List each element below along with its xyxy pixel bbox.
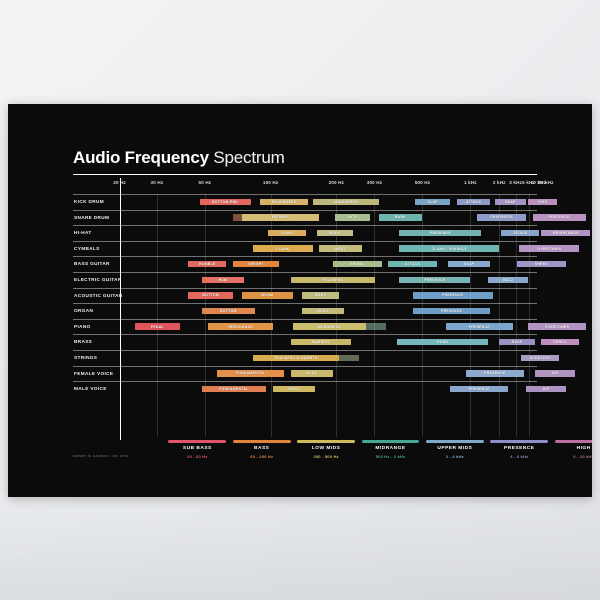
row-divider (73, 288, 537, 289)
axis-tick: 50 Hz (198, 180, 211, 185)
band-bar-label: PEDAL (151, 325, 164, 329)
band-bar-label: CLANG / SPARKLE (432, 247, 468, 251)
frequency-band-bar[interactable]: BODY (273, 386, 315, 392)
page-title: Audio Frequency Spectrum (73, 148, 285, 168)
frequency-band-bar[interactable] (233, 214, 242, 220)
band-bar-label: PRESENCE (484, 371, 505, 375)
frequency-band-bar[interactable]: BOOM (242, 292, 293, 298)
axis-tick: 30 Hz (151, 180, 164, 185)
legend-band-range: 20 - 60 Hz (187, 454, 207, 459)
frequency-band-bar[interactable]: FATNESS (242, 214, 320, 220)
axis-tick: 3 kHz (509, 180, 522, 185)
frequency-band-bar[interactable]: MEAT (319, 245, 361, 251)
frequency-band-bar[interactable]: PRESENCE (413, 308, 491, 314)
frequency-band-bar[interactable]: BOTTOM END (200, 199, 251, 205)
row-divider (73, 319, 537, 320)
legend-band-range: 2 - 4 kHz (446, 454, 464, 459)
instrument-row: ELECTRIC GUITARHUMFULLNESSPRESENCEBUZZ (65, 272, 545, 288)
instrument-label: BASS GUITAR (74, 261, 110, 266)
frequency-band-bar[interactable]: CLANK (253, 245, 313, 251)
axis-tick: 200 Hz (329, 180, 344, 185)
band-bar-label: OVERTONES (537, 247, 561, 251)
legend-band-swatch (426, 440, 484, 443)
axis-tick: 2 kHz (493, 180, 506, 185)
band-bar-label: HISS (538, 200, 547, 204)
band-bar-label: AIR (551, 371, 558, 375)
frequency-band-bar[interactable]: OVERTONES (519, 245, 579, 251)
band-bar-label: CLANK (276, 247, 290, 251)
row-divider (73, 225, 537, 226)
band-bar-label: GONG (281, 231, 293, 235)
frequency-band-bar[interactable]: PRESENCE (533, 214, 586, 220)
legend-band-swatch (168, 440, 226, 443)
frequency-band-bar[interactable]: FULLNESS & WARMTH (253, 355, 340, 361)
band-bar-label: FUNDAMENTAL (219, 387, 248, 391)
frequency-band-bar[interactable]: SNAP (495, 199, 526, 205)
legend-band-swatch (555, 440, 592, 443)
frequency-band-bar[interactable]: PRESENCE (399, 230, 481, 236)
frequency-band-bar[interactable]: PRESENCE (446, 323, 513, 329)
band-bar-label: SCRATCHY (530, 356, 551, 360)
legend-band-swatch (362, 440, 420, 443)
band-bar-label: PRESENCE (549, 215, 570, 219)
row-divider (73, 334, 537, 335)
axis-tick: 500 Hz (415, 180, 430, 185)
band-bar-label: BOTTOM END (212, 200, 238, 204)
frequency-band-bar[interactable]: WARMTH (291, 339, 351, 345)
band-bar-label: SIZZLE (514, 231, 528, 235)
frequency-band-bar[interactable]: SHEEN (517, 261, 566, 267)
frequency-band-bar[interactable]: PRESENCE (450, 386, 508, 392)
band-bar-label: PRESENCE (469, 325, 490, 329)
band-bar-label: FULLNESS & WARMTH (275, 356, 318, 360)
row-divider (73, 210, 537, 211)
frequency-band-bar[interactable]: RUMBLE (188, 261, 226, 267)
frequency-axis: 20 Hz30 Hz50 Hz100 Hz200 Hz300 Hz500 Hz1… (65, 180, 545, 193)
frequency-band-bar[interactable]: CRISPNESS (477, 214, 526, 220)
row-divider (73, 241, 537, 242)
instrument-label: PIANO (74, 324, 91, 329)
instrument-label: ACOUSTIC GUITAR (74, 293, 123, 298)
frequency-band-bar[interactable]: HUM (202, 277, 244, 283)
row-divider (73, 381, 537, 382)
frequency-band-bar[interactable]: SNAP (448, 261, 490, 267)
instrument-row: PIANOPEDALRESONANCEMUDDINESSPRESENCEOVER… (65, 319, 545, 335)
frequency-band-bar[interactable]: MUDDINESS (313, 199, 380, 205)
frequency-band-bar[interactable]: GONG (268, 230, 306, 236)
title-bold: Audio Frequency (73, 148, 209, 167)
frequency-band-legend: SONNY B HARRIS / UK 2722 SUB BASS20 - 60… (65, 440, 545, 474)
frequency-band-bar[interactable] (366, 323, 386, 329)
legend-band-range: 4 - 6 kHz (510, 454, 528, 459)
band-bar-label: BODY (315, 293, 326, 297)
row-divider (73, 272, 537, 273)
instrument-row: STRINGSFULLNESS & WARMTHSCRATCHY (65, 350, 545, 366)
frequency-band-bar[interactable]: BITE (335, 214, 371, 220)
frequency-band-bar[interactable]: WEIGHT (233, 261, 280, 267)
legend-band-swatch (490, 440, 548, 443)
poster-sheet: Audio Frequency Spectrum 20 Hz30 Hz50 Hz… (65, 134, 545, 474)
instrument-label: KICK DRUM (74, 199, 104, 204)
frequency-band-bar[interactable]: ATTACK (388, 261, 437, 267)
frequency-band-bar[interactable]: AIR (535, 370, 575, 376)
audio-frequency-spectrum-poster: Audio Frequency Spectrum 20 Hz30 Hz50 Hz… (8, 104, 592, 497)
row-divider (73, 366, 537, 367)
band-bar-label: ATTACK (405, 262, 420, 266)
band-bar-label: MUDDINESS (334, 200, 357, 204)
band-bar-label: FATNESS (272, 215, 290, 219)
frequency-band-bar[interactable]: SLAP (415, 199, 451, 205)
frequency-band-bar[interactable]: RESONANCE (208, 323, 272, 329)
band-bar-label: SNAP (505, 200, 516, 204)
band-bar-label: BODY (288, 387, 299, 391)
frequency-band-bar[interactable]: BUZZ (488, 277, 528, 283)
instrument-label: SNARE DRUM (74, 215, 109, 220)
band-bar-label: BRIGHTNESS (553, 231, 578, 235)
row-divider (73, 256, 537, 257)
frequency-band-bar[interactable]: FUNDAMENTAL (217, 370, 284, 376)
legend-band-swatch (233, 440, 291, 443)
band-bar-label: CRISPNESS (490, 215, 512, 219)
band-bar-label: BITE (348, 215, 357, 219)
band-bar-label: BOTTOM (220, 309, 237, 313)
row-divider (73, 303, 537, 304)
band-bar-label: RUMBLE (199, 262, 215, 266)
frequency-band-bar[interactable]: HONK (397, 339, 488, 345)
frequency-band-bar[interactable]: BRIGHTNESS (541, 230, 590, 236)
band-bar-label: RESONANCE (228, 325, 253, 329)
axis-tick: 100 Hz (263, 180, 278, 185)
frequency-band-bar[interactable]: SCRATCHY (521, 355, 559, 361)
instrument-label: ELECTRIC GUITAR (74, 277, 122, 282)
legend-band-name: BASS (254, 446, 269, 451)
axis-tick: 20 kHz (538, 180, 553, 185)
title-divider (73, 174, 537, 175)
band-bar-label: BOOM (261, 293, 273, 297)
frequency-band-bar[interactable]: GROWL (333, 261, 382, 267)
legend-band-name: UPPER MIDS (437, 446, 472, 451)
band-bar-label: PRESENCE (469, 387, 490, 391)
band-bar-label: SLAP (427, 200, 437, 204)
band-bar-label: HONK (437, 340, 448, 344)
frequency-band-bar[interactable]: RASP (499, 339, 535, 345)
band-bar-label: BODY (317, 309, 328, 313)
band-bar-label: MEAT (335, 247, 346, 251)
legend-band-name: MIDRANGE (375, 446, 405, 451)
frequency-band-bar[interactable]: BOTTOM (202, 308, 255, 314)
band-bar-label: PRESENCE (424, 278, 445, 282)
frequency-band-bar[interactable]: SIZZLE (501, 230, 539, 236)
frequency-band-bar[interactable]: PRESENCE (399, 277, 470, 283)
axis-tick: 1 kHz (464, 180, 477, 185)
band-bar-label: RASP (512, 340, 523, 344)
title-light: Spectrum (209, 148, 285, 167)
legend-band-range: 6 - 20 kHz (573, 454, 592, 459)
instrument-row: KICK DRUMBOTTOM ENDROUNDNESSMUDDINESSSLA… (65, 194, 545, 210)
frequency-band-bar[interactable]: MUDDINESS (293, 323, 366, 329)
legend-band-swatch (297, 440, 355, 443)
credit-line: SONNY B HARRIS / UK 2722 (73, 454, 129, 458)
instrument-row: MALE VOICEFUNDAMENTALBODYPRESENCEAIR (65, 381, 545, 397)
instrument-row: SNARE DRUMFATNESSBITEBARKCRISPNESSPRESEN… (65, 210, 545, 226)
band-bar-label: ROUNDNESS (272, 200, 297, 204)
frequency-band-bar[interactable]: PRESENCE (466, 370, 524, 376)
legend-band-range: 500 Hz - 2 kHz (376, 454, 405, 459)
legend-band-name: LOW MIDS (312, 446, 341, 451)
band-bar-label: HUM (218, 278, 227, 282)
instrument-row: ACOUSTIC GUITARBOTTOMBOOMBODYPRESENCE (65, 288, 545, 304)
band-bar-label: BOTTOM (202, 293, 219, 297)
frequency-band-bar[interactable] (339, 355, 359, 361)
band-bar-label: SHEEN (535, 262, 548, 266)
band-bar-label: GROWL (350, 262, 365, 266)
instrument-row: BASS GUITARRUMBLEWEIGHTGROWLATTACKSNAPSH… (65, 256, 545, 272)
instrument-row: FEMALE VOICEFUNDAMENTALBODYPRESENCEAIR (65, 366, 545, 382)
legend-band-range: 250 - 500 Hz (313, 454, 338, 459)
band-bar-label: WARMTH (312, 340, 329, 344)
band-bar-label: PRESENCE (442, 293, 463, 297)
row-divider (73, 350, 537, 351)
band-bar-label: OVERTONES (545, 325, 569, 329)
frequency-band-bar[interactable]: HISS (528, 199, 557, 205)
instrument-label: HI-HAT (74, 230, 92, 235)
band-bar-label: BODY (306, 371, 317, 375)
frequency-band-bar[interactable]: BARK (379, 214, 421, 220)
instrument-row: CYMBALSCLANKMEATCLANG / SPARKLEOVERTONES (65, 241, 545, 257)
instrument-label: FEMALE VOICE (74, 371, 113, 376)
band-bar-label: PRESENCE (430, 231, 451, 235)
frequency-band-bar[interactable]: BODY (317, 230, 353, 236)
spectrum-grid: KICK DRUMBOTTOM ENDROUNDNESSMUDDINESSSLA… (65, 194, 545, 437)
band-bar-label: FULLNESS (323, 278, 343, 282)
instrument-label: BRASS (74, 339, 92, 344)
instrument-row: HI-HATGONGBODYPRESENCESIZZLEBRIGHTNESS (65, 225, 545, 241)
legend-band-range: 60 - 250 Hz (250, 454, 273, 459)
instrument-label: STRINGS (74, 355, 97, 360)
band-bar-label: ATTACK (466, 200, 481, 204)
instrument-label: ORGAN (74, 308, 93, 313)
frequency-band-bar[interactable]: AIR (526, 386, 566, 392)
band-bar-label: WEIGHT (248, 262, 264, 266)
band-bar-label: MUDDINESS (318, 325, 341, 329)
frequency-band-bar[interactable]: SHRILL (541, 339, 579, 345)
band-bar-label: BARK (395, 215, 406, 219)
frequency-band-bar[interactable]: BODY (302, 292, 340, 298)
instrument-row: BRASSWARMTHHONKRASPSHRILL (65, 334, 545, 350)
band-bar-label: BODY (329, 231, 340, 235)
frequency-band-bar[interactable]: BODY (302, 308, 344, 314)
axis-tick: 300 Hz (367, 180, 382, 185)
frequency-band-bar[interactable]: CLANG / SPARKLE (399, 245, 499, 251)
frequency-band-bar[interactable]: ROUNDNESS (260, 199, 309, 205)
legend-band-name: HIGH (577, 446, 591, 451)
frequency-band-bar[interactable]: ATTACK (457, 199, 490, 205)
frequency-band-bar[interactable]: FULLNESS (291, 277, 375, 283)
frequency-band-bar[interactable]: BOTTOM (188, 292, 232, 298)
instrument-label: CYMBALS (74, 246, 100, 251)
band-bar-label: SHRILL (553, 340, 567, 344)
legend-band-name: SUB BASS (183, 446, 212, 451)
instrument-label: MALE VOICE (74, 386, 107, 391)
band-bar-label: FUNDAMENTAL (236, 371, 265, 375)
frequency-band-bar[interactable]: OVERTONES (528, 323, 586, 329)
band-bar-label: SNAP (464, 262, 475, 266)
band-bar-label: BUZZ (503, 278, 513, 282)
frequency-band-bar[interactable]: BODY (291, 370, 333, 376)
band-bar-label: AIR (542, 387, 549, 391)
frequency-band-bar[interactable]: FUNDAMENTAL (202, 386, 266, 392)
frequency-band-bar[interactable]: PRESENCE (413, 292, 493, 298)
band-bar-label: PRESENCE (441, 309, 462, 313)
frequency-band-bar[interactable]: PEDAL (135, 323, 179, 329)
row-divider (73, 194, 537, 195)
legend-band-name: PRESENCE (504, 446, 534, 451)
instrument-row: ORGANBOTTOMBODYPRESENCE (65, 303, 545, 319)
